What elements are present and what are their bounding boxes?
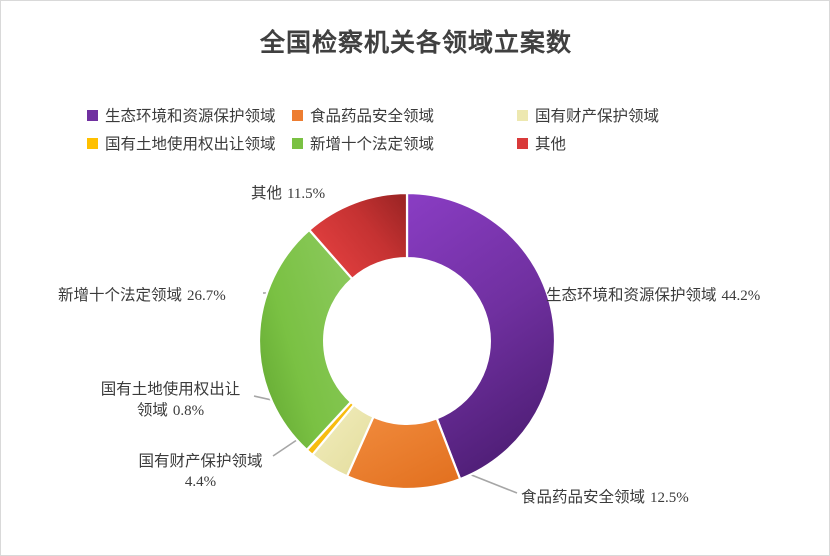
data-label-asset-pct: 4.4% (113, 472, 288, 492)
data-label-other-name: 其他 (251, 184, 282, 202)
legend-swatch-asset (517, 110, 528, 121)
data-label-food-name: 食品药品安全领域 (521, 488, 645, 506)
legend-item-food[interactable]: 食品药品安全领域 (292, 104, 517, 126)
doughnut-svg (257, 191, 557, 491)
legend-item-new[interactable]: 新增十个法定领域 (292, 132, 517, 154)
chart-title: 全国检察机关各领域立案数 (1, 23, 830, 59)
legend-swatch-new (292, 138, 303, 149)
data-label-land-name: 国有土地使用权出让 (63, 379, 278, 400)
data-label-asset: 国有财产保护领域 4.4% (113, 451, 288, 492)
chart-legend: 生态环境和资源保护领域 食品药品安全领域 国有财产保护领域 国有土地使用权出让领… (87, 101, 747, 157)
legend-item-other[interactable]: 其他 (517, 132, 747, 154)
legend-swatch-land (87, 138, 98, 149)
data-label-land-name2-text: 领域 (137, 401, 168, 419)
data-label-food-pct: 12.5% (650, 490, 689, 506)
data-label-other: 其他 11.5% (251, 183, 325, 204)
data-label-new: 新增十个法定领域 26.7% (58, 285, 226, 306)
legend-label-food: 食品药品安全领域 (310, 104, 434, 126)
legend-item-eco[interactable]: 生态环境和资源保护领域 (87, 104, 292, 126)
legend-item-asset[interactable]: 国有财产保护领域 (517, 104, 747, 126)
doughnut-chart (257, 191, 557, 491)
chart-container: 全国检察机关各领域立案数 生态环境和资源保护领域 食品药品安全领域 国有财产保护… (0, 0, 830, 556)
data-label-land-pct: 0.8% (173, 403, 204, 419)
legend-label-land: 国有土地使用权出让领域 (105, 132, 276, 154)
legend-label-new: 新增十个法定领域 (310, 132, 434, 154)
legend-swatch-food (292, 110, 303, 121)
doughnut-slices (259, 193, 555, 489)
data-label-land: 国有土地使用权出让 领域 0.8% (63, 379, 278, 421)
legend-swatch-eco (87, 110, 98, 121)
data-label-eco-pct: 44.2% (721, 288, 760, 304)
legend-label-eco: 生态环境和资源保护领域 (105, 104, 276, 126)
data-label-eco-name: 生态环境和资源保护领域 (546, 286, 717, 304)
data-label-new-pct: 26.7% (187, 288, 226, 304)
legend-swatch-other (517, 138, 528, 149)
legend-label-asset: 国有财产保护领域 (535, 104, 659, 126)
data-label-other-pct: 11.5% (287, 186, 325, 202)
legend-label-other: 其他 (535, 132, 566, 154)
data-label-land-name2: 领域 0.8% (63, 400, 278, 421)
data-label-eco: 生态环境和资源保护领域 44.2% (546, 285, 760, 306)
legend-item-land[interactable]: 国有土地使用权出让领域 (87, 132, 292, 154)
data-label-new-name: 新增十个法定领域 (58, 286, 182, 304)
data-label-food: 食品药品安全领域 12.5% (521, 487, 689, 508)
data-label-asset-name: 国有财产保护领域 (113, 451, 288, 472)
